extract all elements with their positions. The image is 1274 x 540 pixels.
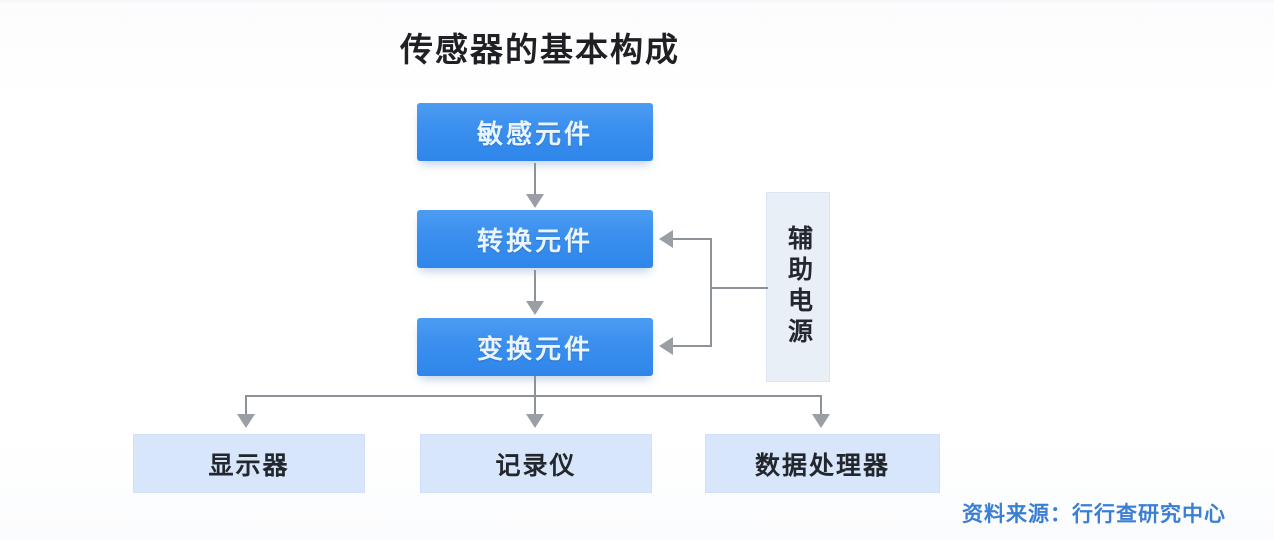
output-box-data-processor[interactable]: 数据处理器 xyxy=(705,434,940,493)
arrow-down-icon xyxy=(526,414,544,428)
arrow-left-icon xyxy=(659,337,673,355)
connector-transform-to-bus xyxy=(534,376,536,397)
connector-sensitive-to-convert xyxy=(534,163,536,196)
diagram-canvas: 传感器的基本构成 敏感元件 转换元件 变换元件 辅助电源 显示器 记录仪 数据处… xyxy=(0,0,1274,540)
connector-convert-to-transform xyxy=(534,270,536,303)
aux-power-box[interactable]: 辅助电源 xyxy=(766,192,830,382)
connector-bus-to-processor xyxy=(820,395,822,416)
connector-aux-to-transform xyxy=(673,345,712,347)
aux-power-label: 辅助电源 xyxy=(786,225,811,349)
process-box-label: 变换元件 xyxy=(477,329,593,366)
connector-bus-to-recorder xyxy=(534,395,536,416)
arrow-left-icon xyxy=(659,230,673,248)
source-attribution: 资料来源：行行查研究中心 xyxy=(962,498,1226,528)
output-box-display[interactable]: 显示器 xyxy=(133,434,365,493)
arrow-down-icon xyxy=(812,414,830,428)
process-box-label: 敏感元件 xyxy=(477,114,593,151)
connector-aux-to-convert xyxy=(673,238,712,240)
connector-bus-to-display xyxy=(245,395,247,416)
connector-aux-trunk xyxy=(710,287,768,289)
arrow-down-icon xyxy=(237,414,255,428)
process-box-label: 转换元件 xyxy=(477,221,593,258)
output-box-recorder[interactable]: 记录仪 xyxy=(420,434,652,493)
connector-aux-bracket xyxy=(710,238,712,346)
arrow-down-icon xyxy=(526,194,544,208)
arrow-down-icon xyxy=(526,301,544,315)
output-box-label: 显示器 xyxy=(208,446,289,482)
page-title: 传感器的基本构成 xyxy=(0,30,1080,70)
output-box-label: 记录仪 xyxy=(495,446,576,482)
process-box-conversion-element[interactable]: 转换元件 xyxy=(417,210,653,268)
process-box-sensitive-element[interactable]: 敏感元件 xyxy=(417,103,653,161)
process-box-transform-element[interactable]: 变换元件 xyxy=(417,318,653,376)
output-box-label: 数据处理器 xyxy=(755,446,890,482)
